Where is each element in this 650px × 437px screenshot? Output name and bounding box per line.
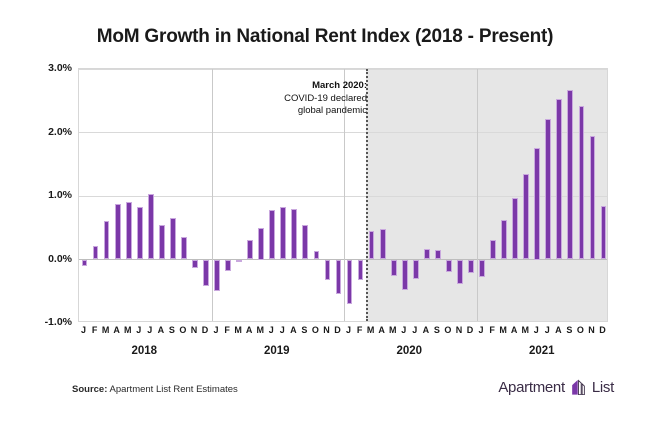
bar-aug-2018[interactable]	[159, 225, 165, 260]
bar-may-2020[interactable]	[391, 260, 397, 277]
bar-jan-2019[interactable]	[214, 260, 220, 291]
bar-jun-2021[interactable]	[534, 148, 540, 259]
bar-oct-2021[interactable]	[579, 106, 585, 260]
bar-jan-2018[interactable]	[82, 260, 88, 266]
gridline-2	[79, 132, 607, 133]
bar-may-2018[interactable]	[126, 202, 132, 260]
annotation-line-2: global pandemic	[215, 105, 367, 118]
y-tick-label-0p0: 0.0%	[28, 253, 72, 265]
logo-word-list: List	[592, 379, 614, 396]
bar-may-2019[interactable]	[258, 228, 264, 260]
bar-jul-2021[interactable]	[545, 119, 551, 260]
bar-nov-2021[interactable]	[590, 136, 596, 260]
y-tick-label-3p0: 3.0%	[28, 62, 72, 74]
bar-nov-2018[interactable]	[192, 260, 198, 268]
covid-annotation: March 2020: COVID-19 declared global pan…	[215, 80, 367, 118]
bar-jul-2018[interactable]	[148, 194, 154, 259]
chart-card: MoM Growth in National Rent Index (2018 …	[0, 0, 650, 437]
bar-may-2021[interactable]	[523, 174, 529, 260]
bar-jun-2019[interactable]	[269, 210, 275, 260]
bar-apr-2019[interactable]	[247, 240, 253, 259]
bar-jun-2018[interactable]	[137, 207, 143, 259]
bar-oct-2019[interactable]	[314, 251, 320, 260]
bar-mar-2020[interactable]	[369, 231, 375, 260]
source-note: Source: Apartment List Rent Estimates	[72, 384, 238, 395]
x-axis-year-labels: 2018201920202021	[78, 345, 608, 367]
source-text: Apartment List Rent Estimates	[107, 384, 237, 395]
bar-dec-2019[interactable]	[336, 260, 342, 295]
y-tick-label-1p0: 1.0%	[28, 189, 72, 201]
bar-feb-2021[interactable]	[490, 240, 496, 259]
year-label-2018: 2018	[78, 345, 211, 357]
bar-feb-2020[interactable]	[358, 260, 364, 280]
bar-oct-2018[interactable]	[181, 237, 187, 260]
annotation-line-1: COVID-19 declared	[215, 93, 367, 106]
bar-mar-2019[interactable]	[236, 260, 242, 263]
bar-sep-2021[interactable]	[567, 90, 573, 260]
bar-nov-2019[interactable]	[325, 260, 331, 281]
bar-jul-2019[interactable]	[280, 207, 286, 259]
bar-nov-2020[interactable]	[457, 260, 463, 284]
bar-feb-2018[interactable]	[93, 246, 99, 260]
year-label-2020: 2020	[343, 345, 476, 357]
bar-dec-2018[interactable]	[203, 260, 209, 287]
bar-aug-2021[interactable]	[556, 99, 562, 259]
bar-feb-2019[interactable]	[225, 260, 231, 271]
bar-oct-2020[interactable]	[446, 260, 452, 273]
bar-apr-2018[interactable]	[115, 204, 121, 259]
source-label: Source:	[72, 384, 107, 395]
bar-aug-2019[interactable]	[291, 209, 297, 260]
bar-mar-2018[interactable]	[104, 221, 110, 259]
year-separator-2021	[477, 69, 478, 321]
bar-jan-2021[interactable]	[479, 260, 485, 277]
year-label-2021: 2021	[476, 345, 609, 357]
bar-jan-2020[interactable]	[347, 260, 353, 304]
annotation-heading: March 2020:	[215, 80, 367, 93]
bar-aug-2020[interactable]	[424, 249, 430, 260]
bar-sep-2018[interactable]	[170, 218, 176, 259]
bar-sep-2020[interactable]	[435, 250, 441, 260]
bar-jun-2020[interactable]	[402, 260, 408, 290]
bar-apr-2020[interactable]	[380, 229, 386, 259]
year-separator-2019	[212, 69, 213, 321]
gridline-3	[79, 69, 607, 70]
logo-word-apartment: Apartment	[498, 379, 565, 396]
bar-jul-2020[interactable]	[413, 260, 419, 279]
y-tick-label-2p0: 2.0%	[28, 126, 72, 138]
bar-dec-2021[interactable]	[601, 206, 607, 260]
y-tick-label-neg1p0: -1.0%	[28, 316, 72, 328]
page-title: MoM Growth in National Rent Index (2018 …	[0, 26, 650, 48]
bar-sep-2019[interactable]	[302, 225, 308, 260]
year-label-2019: 2019	[211, 345, 344, 357]
bar-dec-2020[interactable]	[468, 260, 474, 274]
bar-mar-2021[interactable]	[501, 220, 507, 259]
apartment-list-logo: Apartment List	[498, 378, 614, 397]
apartment-list-house-icon	[569, 378, 588, 397]
y-axis: 3.0%2.0%1.0%0.0%-1.0%	[20, 0, 72, 437]
x-axis-month-labels: JFMAMJJASONDJFMAMJJASONDJFMAMJJASONDJFMA…	[78, 325, 608, 345]
bar-apr-2021[interactable]	[512, 198, 518, 260]
month-tick-dec-2021: D	[596, 325, 608, 335]
